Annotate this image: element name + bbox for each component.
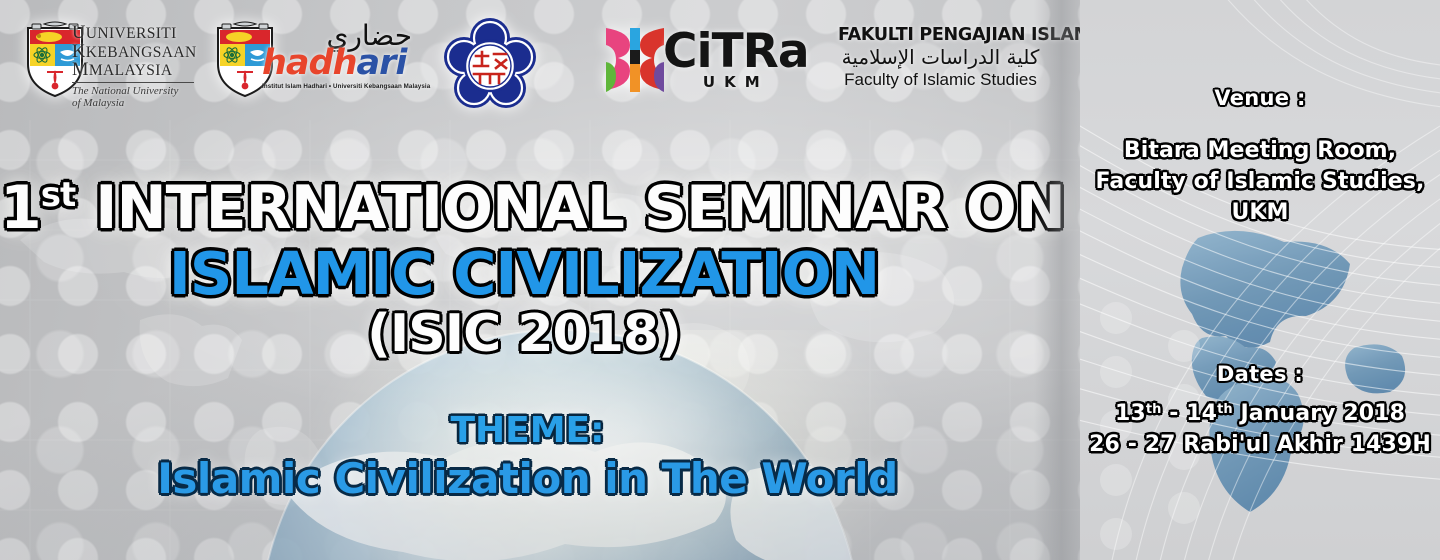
venue-line-1: Bitara Meeting Room, [1080,135,1440,166]
citra-wordmark: CiTRa UKM [663,28,809,91]
ukm-name-line-2: KKEBANGSAAN [72,43,197,62]
dates-hijri: 26 - 27 Rabi'ul Akhir 1439H [1080,429,1440,460]
panel-edge-shadow [1034,0,1084,560]
dates-body-wrap: 13th - 14th January 2018 26 - 27 Rabi'ul… [1080,398,1440,460]
date-start-ordinal: th [1146,402,1162,417]
seminar-acronym: (ISIC 2018) [0,308,1048,360]
fpi-english-name: Faculty of Islamic Studies [838,71,1043,88]
plum-blossom-seal-icon [440,16,540,116]
citra-butterfly-icon [604,26,666,94]
ukm-tagline-line-1: The National University [72,85,197,98]
fpi-wordmark: FAKULTI PENGAJIAN ISLAM كلية الدراسات ال… [838,27,1043,88]
fpi-malay-name: FAKULTI PENGAJIAN ISLAM [838,27,1043,45]
venue-line-2: Faculty of Islamic Studies, UKM [1080,166,1440,228]
ordinal-suffix: st [41,175,76,215]
date-separator: - 14 [1162,401,1218,426]
theme-text: Islamic Civilization in The World [0,458,1055,500]
isic-2018-banner: UUNIVERSITI KKEBANGSAAN MMALAYSIA The Na… [0,0,1440,560]
ukm-divider [72,82,194,83]
ukm-name-line-1: UUNIVERSITI [72,24,197,43]
hadhari-wordmark-blue: ari [357,43,407,83]
hadhari-wordmark: حضاري hadhari Institut Islam Hadhari • U… [262,22,412,90]
hadhari-latin-wordmark: hadhari [262,46,412,81]
venue-label: Venue : [1080,84,1440,112]
seminar-title-line-2: ISLAMIC CIVILIZATION [0,244,1048,303]
date-end-ordinal: th [1217,402,1233,417]
ukm-name-line-3: MMALAYSIA [72,61,197,80]
seminar-title-block: 1st INTERNATIONAL SEMINAR ON ISLAMIC CIV… [0,178,1048,360]
dates-gregorian: 13th - 14th January 2018 [1080,398,1440,429]
citra-wordmark-text: CiTRa [663,28,809,75]
hadhari-subtitle: Institut Islam Hadhari • Universiti Keba… [262,83,412,90]
ordinal-number: 1 [0,173,41,243]
seminar-title-line-1: 1st INTERNATIONAL SEMINAR ON [0,178,1048,238]
venue-label-wrap: Venue : [1080,84,1440,112]
venue-body-wrap: Bitara Meeting Room, Faculty of Islamic … [1080,135,1440,229]
logo-row: UUNIVERSITI KKEBANGSAAN MMALAYSIA The Na… [0,0,1080,120]
ukm-wordmark: UUNIVERSITI KKEBANGSAAN MMALAYSIA The Na… [72,24,197,110]
date-start-day: 13 [1115,401,1146,426]
seminar-title-line-1-rest: INTERNATIONAL SEMINAR ON [75,173,1065,243]
date-month-year: January 2018 [1233,401,1405,426]
dates-label: Dates : [1080,360,1440,388]
theme-block: THEME: Islamic Civilization in The World [0,413,1055,500]
hadhari-wordmark-red: hadh [262,43,357,83]
fpi-arabic-name: كلية الدراسات الإسلامية [838,46,1043,69]
ukm-tagline-line-2: of Malaysia [72,97,197,110]
theme-label: THEME: [0,413,1055,449]
dates-label-wrap: Dates : [1080,360,1440,388]
